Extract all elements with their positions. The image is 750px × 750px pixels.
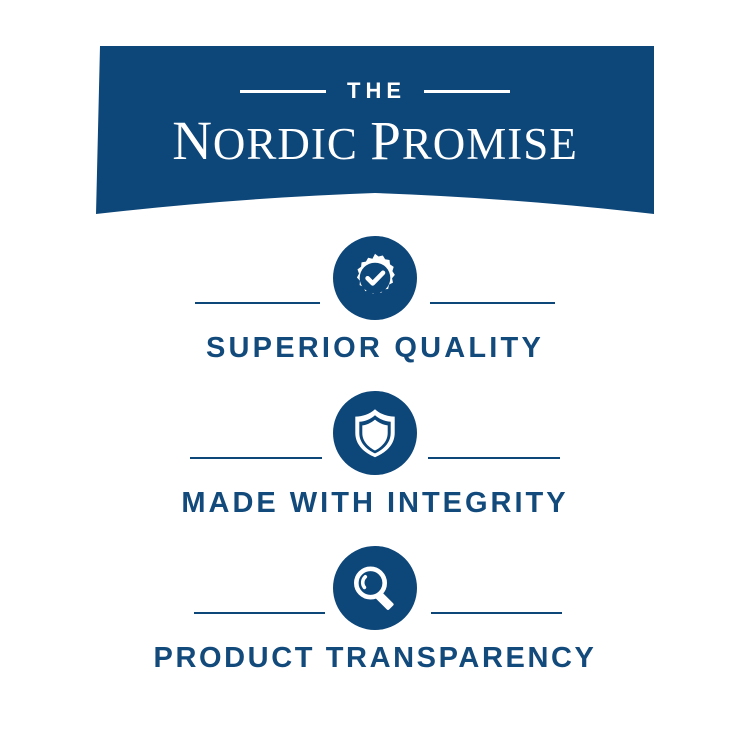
pillar-icon-row xyxy=(0,538,750,638)
pillar-icon-row xyxy=(0,383,750,483)
pillar-superior-quality: SUPERIOR QUALITY xyxy=(0,228,750,383)
banner: THE NORDIC PROMISE xyxy=(0,0,750,230)
pillar-icon-row xyxy=(0,228,750,328)
badge-check-icon xyxy=(333,236,417,320)
pillar-label: SUPERIOR QUALITY xyxy=(0,329,750,367)
banner-shape xyxy=(96,46,654,214)
pillar-made-with-integrity: MADE WITH INTEGRITY xyxy=(0,383,750,538)
pillar-rule-right xyxy=(430,302,555,304)
magnifying-glass-icon xyxy=(333,546,417,630)
pillar-rule-right xyxy=(428,457,560,459)
pillar-product-transparency: PRODUCT TRANSPARENCY xyxy=(0,538,750,693)
pillar-list: SUPERIOR QUALITY MADE WITH INTEGRITY xyxy=(0,228,750,693)
pillar-label: MADE WITH INTEGRITY xyxy=(0,484,750,522)
nordic-promise-infographic: THE NORDIC PROMISE xyxy=(0,0,750,750)
pillar-rule-left xyxy=(195,302,320,304)
pillar-rule-right xyxy=(431,612,562,614)
shield-icon xyxy=(333,391,417,475)
pillar-rule-left xyxy=(190,457,322,459)
pillar-label: PRODUCT TRANSPARENCY xyxy=(0,639,750,677)
pillar-rule-left xyxy=(194,612,325,614)
